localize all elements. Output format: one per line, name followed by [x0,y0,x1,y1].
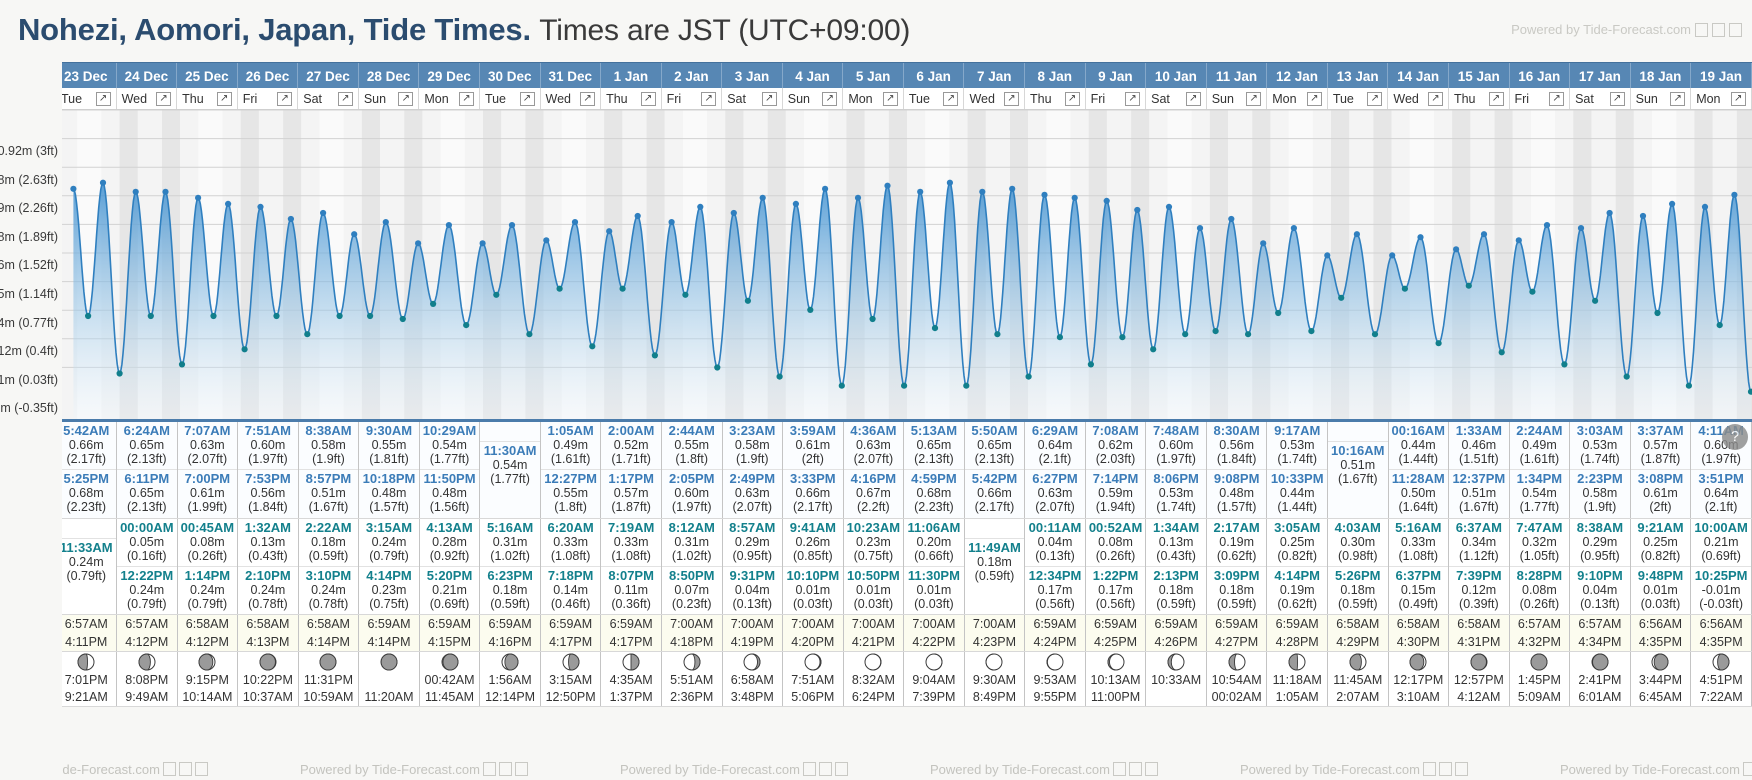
moonrise-time: 11:45AM [420,689,480,706]
high-tide-marker [979,189,985,195]
high-tide-marker [731,210,737,216]
sun-cell: 6:58AM4:31PM [1449,614,1510,651]
high-height-ft: (2.17ft) [783,500,843,514]
sun-cell: 7:00AM4:23PM [964,614,1025,651]
moon-cell: 9:30AM8:49PM [964,651,1025,706]
low-height-ft: (0.75ft) [844,549,904,563]
y-axis-tick-label: 0.12m (0.4ft) [0,344,58,358]
high-height-ft: (1.67ft) [299,500,359,514]
low-time: 1:32AM [238,521,298,535]
high-event: 9:17AM0.53m(1.74ft) [1267,422,1327,469]
low-time: 4:03AM [1328,521,1388,535]
moonrise-time: 12:50PM [541,689,601,706]
high-tide-marker [225,201,231,207]
moonrise-time: 12:14PM [480,689,540,706]
sunset-time: 4:12PM [178,633,238,651]
expand-day-icon[interactable]: ↗ [580,92,595,106]
high-time: 7:53PM [238,472,298,486]
expand-day-icon[interactable]: ↗ [1489,92,1504,106]
moonset-time: 10:22PM [238,672,298,689]
low-height-m: 0.30m [1328,535,1388,549]
low-event: 4:14PM0.19m(0.62ft) [1267,566,1327,614]
high-height-ft: (2ft) [1631,500,1691,514]
expand-day-icon[interactable]: ↗ [762,92,777,106]
download-icon [1145,762,1158,776]
moon-icon-wrap [1631,652,1691,672]
expand-day-icon[interactable]: ↗ [459,92,474,106]
low-height-ft: (0.16ft) [117,549,177,563]
moonset-time: 9:53AM [1025,672,1085,689]
sunset-time: 4:17PM [541,633,601,651]
high-tide-cell: 5:42AM0.66m(2.17ft)5:25PM0.68m(2.23ft) [56,422,117,518]
low-tide-marker [932,325,938,331]
high-height-m: 0.68m [56,486,116,500]
expand-day-icon[interactable]: ↗ [1004,92,1019,106]
high-height-m: 0.63m [178,438,238,452]
high-time: 5:50AM [965,424,1025,438]
low-tide-marker [682,292,688,298]
low-time: 9:48PM [1631,569,1691,583]
high-height-m: 0.63m [844,438,904,452]
high-time: 9:08PM [1207,472,1267,486]
moon-icon-wrap [1570,652,1630,672]
high-tide-marker [100,180,106,186]
expand-day-icon[interactable]: ↗ [1367,92,1382,106]
moon-cell: 3:44PM6:45AM [1630,651,1691,706]
high-tide-cell: 2:24AM0.49m(1.61ft)1:34PM0.54m(1.77ft) [1509,422,1570,518]
moon-icon-wrap [1328,652,1388,672]
sunrise-time: 6:57AM [1510,615,1570,633]
low-height-m: 0.18m [299,535,359,549]
high-event: 9:08PM0.48m(1.57ft) [1207,469,1267,517]
high-tide-cell: 7:48AM0.60m(1.97ft)8:06PM0.53m(1.74ft) [1146,422,1207,518]
low-event: 9:10PM0.04m(0.13ft) [1570,566,1630,614]
moonset-time: 9:04AM [904,672,964,689]
weekday-label: Tue [909,92,930,106]
low-time: 8:07PM [601,569,661,583]
date-header-cell[interactable]: 3 Jan [722,63,783,89]
low-height-m: 0.26m [783,535,843,549]
high-tide-cell: 3:37AM0.57m(1.87ft)3:08PM0.61m(2ft) [1630,422,1691,518]
expand-day-icon[interactable]: ↗ [338,92,353,106]
weekday-header-cell: Sun↗ [359,88,420,109]
moonset-time: 11:18AM [1267,672,1327,689]
moon-phase-icon [318,652,338,672]
low-height-m: 0.18m [1146,583,1206,597]
low-event: 6:37PM0.15m(0.49ft) [1389,566,1449,614]
high-height-ft: (2.07ft) [723,500,783,514]
low-height-ft: (0.43ft) [1146,549,1206,563]
high-height-ft: (1.57ft) [1207,500,1267,514]
high-event: 5:42PM0.66m(2.17ft) [965,469,1025,517]
low-tide-cell: 11:06AM0.20m(0.66ft)11:30PM0.01m(0.03ft) [904,518,965,614]
weekday-header-cell: Tue↗ [1328,88,1389,109]
expand-day-icon[interactable]: ↗ [1246,92,1261,106]
sunrise-time: 6:59AM [359,615,419,633]
high-tide-marker [415,240,421,246]
date-header-cell[interactable]: 13 Jan [1328,63,1389,89]
tide-curve-svg [59,110,1752,422]
high-tide-marker [288,216,294,222]
sunrise-time: 6:59AM [1146,615,1206,633]
expand-day-icon[interactable]: ↗ [641,92,656,106]
date-header-cell[interactable]: 12 Jan [1267,63,1328,89]
moon-icon-wrap [117,652,177,672]
sun-cell: 6:59AM4:26PM [1146,614,1207,651]
high-time: 11:50PM [420,472,480,486]
high-height-ft: (1.9ft) [299,452,359,466]
sunset-time: 4:22PM [904,633,964,651]
low-time: 11:30PM [904,569,964,583]
low-height-m: 0.31m [480,535,540,549]
expand-day-icon[interactable]: ↗ [701,92,716,106]
high-time: 5:42AM [56,424,116,438]
high-height-ft: (2.1ft) [1691,500,1751,514]
moonrise-time: 1:05AM [1267,689,1327,706]
page-title-timezone: Times are JST (UTC+09:00) [539,14,910,47]
date-header-cell[interactable]: 29 Dec [419,63,480,89]
low-event: 7:39PM0.12m(0.39ft) [1449,566,1509,614]
low-tide-cell: 1:32AM0.13m(0.43ft)2:10PM0.24m(0.78ft) [238,518,299,614]
low-height-m: 0.25m [1631,535,1691,549]
expand-day-icon[interactable]: ↗ [398,92,413,106]
help-badge[interactable]: ? [1722,424,1748,450]
date-header-cell[interactable]: 11 Jan [1207,63,1268,89]
date-header-cell[interactable]: 23 Dec [56,63,117,89]
high-height-m: 0.50m [1389,486,1449,500]
high-tide-marker [1731,192,1737,198]
expand-day-icon[interactable]: ↗ [1186,92,1201,106]
high-event: 8:57PM0.51m(1.67ft) [299,469,359,517]
date-header-cell[interactable]: 30 Dec [480,63,541,89]
sunrise-time: 6:57AM [117,615,177,633]
high-tide-cell: 7:08AM0.62m(2.03ft)7:14PM0.59m(1.94ft) [1085,422,1146,518]
expand-day-icon[interactable]: ↗ [943,92,958,106]
high-height-ft: (1.9ft) [723,452,783,466]
date-header-cell[interactable]: 24 Dec [117,63,178,89]
high-height-m: 0.54m [480,458,540,472]
high-tide-cell: 5:13AM0.65m(2.13ft)4:59PM0.68m(2.23ft) [904,422,965,518]
moon-phase-icon [924,652,944,672]
moonset-time: 10:33AM [1146,672,1206,689]
moonrise-time: 6:24PM [844,689,904,706]
high-event: 3:08PM0.61m(2ft) [1631,469,1691,517]
high-height-ft: (1.74ft) [1570,452,1630,466]
high-tide-cell: 10:29AM0.54m(1.77ft)11:50PM0.48m(1.56ft) [419,422,480,518]
high-tide-cell: 6:29AM0.64m(2.1ft)6:27PM0.63m(2.07ft) [1025,422,1086,518]
high-tide-marker [697,204,703,210]
low-tide-marker [179,361,185,367]
low-height-m: 0.33m [601,535,661,549]
expand-day-icon[interactable]: ↗ [1549,92,1564,106]
date-header-cell[interactable]: 10 Jan [1146,63,1207,89]
high-height-m: 0.61m [178,486,238,500]
high-tide-marker [760,195,766,201]
sunset-time: 4:28PM [1267,633,1327,651]
date-header-cell[interactable]: 25 Dec [177,63,238,89]
expand-day-icon[interactable]: ↗ [1610,92,1625,106]
low-time: 10:10PM [783,569,843,583]
low-event: 7:47AM0.32m(1.05ft) [1510,519,1570,566]
low-tide-cell: 7:19AM0.33m(1.08ft)8:07PM0.11m(0.36ft) [601,518,662,614]
y-axis: 0.92m (3ft)0.8m (2.63ft)0.69m (2.26ft)0.… [0,62,62,780]
expand-day-icon[interactable]: ↗ [1428,92,1443,106]
weekday-header-cell: Thu↗ [177,88,238,109]
high-time: 8:38AM [299,424,359,438]
low-tide-marker [1182,331,1188,337]
expand-day-icon[interactable]: ↗ [277,92,292,106]
moon-cell: 7:51AM5:06PM [783,651,844,706]
high-time: 5:13AM [904,424,964,438]
date-header-cell[interactable]: 18 Jan [1631,63,1692,89]
moonset-time: 1:56AM [480,672,540,689]
low-tide-marker [1529,289,1535,295]
weekday-label: Sun [1212,92,1234,106]
high-tide-cell: 8:38AM0.58m(1.9ft)8:57PM0.51m(1.67ft) [298,422,359,518]
moonset-time: 10:54AM [1207,672,1267,689]
high-height-ft: (2.13ft) [904,452,964,466]
high-event: 4:59PM0.68m(2.23ft) [904,469,964,517]
expand-day-icon[interactable]: ↗ [1065,92,1080,106]
high-time: 2:23PM [1570,472,1630,486]
high-time: 4:16PM [844,472,904,486]
moon-cell: 12:17PM3:10AM [1388,651,1449,706]
high-tide-marker [884,183,890,189]
moon-cell: 11:20AM [359,651,420,706]
sunset-time: 4:31PM [1449,633,1509,651]
date-header-cell[interactable]: 26 Dec [238,63,299,89]
low-tide-marker [963,383,969,389]
low-time: 3:15AM [359,521,419,535]
low-height-ft: (0.46ft) [541,597,601,611]
moon-phase-icon [1227,652,1247,672]
moon-cell: 10:54AM00:02AM [1206,651,1267,706]
high-tide-marker [1134,207,1140,213]
low-height-m: 0.24m [299,583,359,597]
moon-phase-icon [1106,652,1126,672]
low-height-m: 0.19m [1267,583,1327,597]
low-height-ft: (0.79ft) [359,549,419,563]
high-height-m: 0.65m [904,438,964,452]
sun-cell: 7:00AM4:22PM [904,614,965,651]
high-event: 1:17PM0.57m(1.87ft) [601,469,661,517]
sunset-time: 4:19PM [723,633,783,651]
sun-cell: 6:57AM4:32PM [1509,614,1570,651]
high-height-m: 0.68m [904,486,964,500]
weekday-header-cell: Thu↗ [601,88,662,109]
date-header-cell[interactable]: 7 Jan [964,63,1025,89]
low-event: 6:20AM0.33m(1.08ft) [541,519,601,566]
moonset-time: 2:41PM [1570,672,1630,689]
low-tide-cell: 5:16AM0.31m(1.02ft)6:23PM0.18m(0.59ft) [480,518,541,614]
moon-icon-wrap [480,652,540,672]
share-icon [819,762,832,776]
low-time: 6:20AM [541,521,601,535]
sunrise-time: 6:58AM [299,615,359,633]
flag-icon [163,762,176,776]
moonset-time: 10:13AM [1086,672,1146,689]
date-header-cell[interactable]: 1 Jan [601,63,662,89]
low-event: 10:50PM0.01m(0.03ft) [844,566,904,614]
share-icon [1129,762,1142,776]
moonset-time: 11:45AM [1328,672,1388,689]
high-event: 6:24AM0.65m(2.13ft) [117,422,177,469]
moonrise-time: 9:49AM [117,689,177,706]
moonrise-time: 7:39PM [904,689,964,706]
date-header-cell[interactable]: 8 Jan [1025,63,1086,89]
high-height-m: 0.44m [1267,486,1327,500]
moon-cell: 2:41PM6:01AM [1570,651,1631,706]
high-height-ft: (1.81ft) [359,452,419,466]
low-event: 11:49AM0.18m(0.59ft) [965,538,1025,586]
moon-cell: 10:22PM10:37AM [238,651,299,706]
date-header-cell[interactable]: 4 Jan [783,63,844,89]
date-header-cell[interactable]: 28 Dec [359,63,420,89]
date-header-cell[interactable]: 5 Jan [843,63,904,89]
moon-icon-wrap [1207,652,1267,672]
high-event: 3:51PM0.64m(2.1ft) [1691,469,1751,517]
low-height-ft: (0.39ft) [1449,597,1509,611]
high-tide-marker [1260,240,1266,246]
high-time: 9:17AM [1267,424,1327,438]
download-icon [835,762,848,776]
high-height-ft: (1.77ft) [480,472,540,486]
sunset-time: 4:27PM [1207,633,1267,651]
expand-day-icon[interactable]: ↗ [1670,92,1685,106]
date-header-cell[interactable]: 19 Jan [1691,63,1752,89]
weekday-label: Thu [182,92,204,106]
moonrise-time: 5:06PM [783,689,843,706]
low-time: 6:23PM [480,569,540,583]
sun-cell: 6:59AM4:27PM [1206,614,1267,651]
moonrise-time: 8:49PM [965,689,1025,706]
high-height-ft: (2.13ft) [965,452,1025,466]
moonset-time: 00:42AM [420,672,480,689]
high-time: 11:30AM [480,444,540,458]
high-time: 00:16AM [1389,424,1449,438]
moonrise-time: 2:07AM [1328,689,1388,706]
low-tide-marker [1338,295,1344,301]
date-header-cell[interactable]: 9 Jan [1086,63,1147,89]
low-height-ft: (1.12ft) [1449,549,1509,563]
low-event: 6:37AM0.34m(1.12ft) [1449,519,1509,566]
low-event: 8:07PM0.11m(0.36ft) [601,566,661,614]
high-tide-cell: 1:33AM0.46m(1.51ft)12:37PM0.51m(1.67ft) [1449,422,1510,518]
weekday-header-cell: Sun↗ [1631,88,1692,109]
high-event: 4:16PM0.67m(2.2ft) [844,469,904,517]
date-header-cell[interactable]: 31 Dec [541,63,602,89]
high-event: 2:44AM0.55m(1.8ft) [662,422,722,469]
low-height-m: 0.01m [844,583,904,597]
high-tide-marker [70,186,76,192]
date-header-row: 23 Dec24 Dec25 Dec26 Dec27 Dec28 Dec29 D… [56,62,1752,88]
high-event: 2:00AM0.52m(1.71ft) [601,422,661,469]
high-tide-marker [1702,204,1708,210]
expand-day-icon[interactable]: ↗ [1125,92,1140,106]
sunset-time: 4:29PM [1328,633,1388,651]
weekday-label: Tue [61,92,82,106]
high-tide-marker [195,195,201,201]
footer-watermark-text: Powered by Tide-Forecast.com [1560,762,1740,777]
expand-day-icon[interactable]: ↗ [520,92,535,106]
high-tide-cell: 00:16AM0.44m(1.44ft)11:28AM0.50m(1.64ft) [1388,422,1449,518]
high-height-ft: (2.07ft) [844,452,904,466]
high-time: 1:05AM [541,424,601,438]
expand-day-icon[interactable]: ↗ [217,92,232,106]
download-icon [195,762,208,776]
moon-icon-wrap [601,652,661,672]
low-time: 11:06AM [904,521,964,535]
date-header-cell[interactable]: 17 Jan [1570,63,1631,89]
high-tide-marker [606,228,612,234]
expand-day-icon[interactable]: ↗ [1307,92,1322,106]
weekday-label: Mon [424,92,448,106]
sunrise-time: 6:57AM [56,615,116,633]
expand-day-icon[interactable]: ↗ [96,92,111,106]
low-event: 12:34PM0.17m(0.56ft) [1025,566,1085,614]
sunrise-time: 6:58AM [178,615,238,633]
high-height-m: 0.65m [965,438,1025,452]
expand-day-icon[interactable]: ↗ [822,92,837,106]
moon-icon-wrap [904,652,964,672]
high-time: 10:29AM [420,424,480,438]
high-tide-marker [1607,210,1613,216]
moon-phase-icon [742,652,762,672]
high-event: 12:37PM0.51m(1.67ft) [1449,469,1509,517]
moon-icon-wrap [420,652,480,672]
moon-cell: 4:51PM7:22AM [1691,651,1752,706]
high-time: 3:08PM [1631,472,1691,486]
date-header-cell[interactable]: 14 Jan [1388,63,1449,89]
low-event: 2:10PM0.24m(0.78ft) [238,566,298,614]
low-height-ft: (0.85ft) [783,549,843,563]
date-header-cell[interactable]: 15 Jan [1449,63,1510,89]
page-title: Nohezi, Aomori, Japan, Tide Times. Times… [18,12,1752,48]
high-time: 6:11PM [117,472,177,486]
moon-phase-icon [197,652,217,672]
low-tide-marker [117,370,123,376]
high-height-ft: (1.87ft) [1631,452,1691,466]
low-time: 8:12AM [662,521,722,535]
date-header-cell[interactable]: 6 Jan [904,63,965,89]
expand-day-icon[interactable]: ↗ [883,92,898,106]
low-tide-cell: 10:23AM0.23m(0.75ft)10:50PM0.01m(0.03ft) [843,518,904,614]
moonrise-time: 3:10AM [1389,689,1449,706]
sunset-time: 4:17PM [601,633,661,651]
low-tide-marker [1119,334,1125,340]
high-time: 8:57PM [299,472,359,486]
flag-icon [1423,762,1436,776]
expand-day-icon[interactable]: ↗ [1731,92,1746,106]
low-tide-marker [870,316,876,322]
date-header-cell[interactable]: 2 Jan [662,63,723,89]
low-time: 4:13AM [420,521,480,535]
sunrise-time: 6:56AM [1631,615,1691,633]
low-height-ft: (0.56ft) [1025,597,1085,611]
date-header-cell[interactable]: 16 Jan [1510,63,1571,89]
expand-day-icon[interactable]: ↗ [156,92,171,106]
high-height-m: 0.65m [117,438,177,452]
low-tide-marker [1466,283,1472,289]
date-header-cell[interactable]: 27 Dec [298,63,359,89]
low-tide-marker [148,313,154,319]
low-height-ft: (1.05ft) [1510,549,1570,563]
low-tide-marker [901,383,907,389]
high-event: 3:23AM0.58m(1.9ft) [723,422,783,469]
high-tide-cell: 4:36AM0.63m(2.07ft)4:16PM0.67m(2.2ft) [843,422,904,518]
high-event: 8:06PM0.53m(1.74ft) [1146,469,1206,517]
low-height-m: 0.28m [420,535,480,549]
